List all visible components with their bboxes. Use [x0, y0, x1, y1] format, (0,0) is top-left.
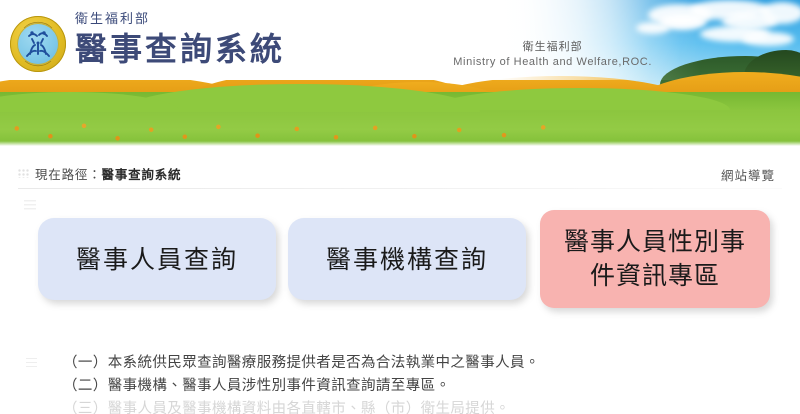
ministry-name-en: Ministry of Health and Welfare,ROC.: [453, 56, 652, 68]
breadcrumb-label: 現在路徑：: [35, 167, 102, 182]
notes-list: （一）本系統供民眾查詢醫療服務提供者是否為合法執業中之醫事人員。 （二）醫事機構…: [0, 352, 800, 414]
logo-people-glyph: [10, 16, 66, 72]
note-item: （三）醫事人員及醫事機構資料由各直轄市、縣（市）衛生局提供。: [63, 398, 800, 414]
breadcrumb-text: 現在路徑：醫事查詢系統: [35, 164, 181, 183]
breadcrumb-current: 醫事查詢系統: [102, 167, 182, 182]
tile-label-line1: 醫事人員性別事: [564, 227, 746, 256]
ministry-name-zh: 衛生福利部: [453, 38, 652, 54]
sitemap-link[interactable]: 網站導覽: [721, 165, 775, 184]
page-title: 醫事查詢系統: [75, 29, 285, 69]
header-title-group: 衛生福利部 醫事查詢系統: [75, 12, 285, 69]
breadcrumb: 現在路徑：醫事查詢系統: [18, 164, 181, 183]
ministry-signature: 衛生福利部 Ministry of Health and Welfare,ROC…: [453, 38, 652, 68]
tile-label: 醫事人員性別事件資訊專區: [564, 225, 746, 294]
note-item: （二）醫事機構、醫事人員涉性別事件資訊查詢請至專區。: [63, 375, 800, 398]
quick-links-row: 醫事人員查詢 醫事機構查詢 醫事人員性別事件資訊專區: [0, 200, 800, 320]
tile-label: 醫事人員查詢: [76, 243, 238, 276]
breadcrumb-divider: [18, 188, 782, 189]
tile-medical-institution-inquiry[interactable]: 醫事機構查詢: [288, 218, 526, 300]
tile-label-line2: 件資訊專區: [590, 261, 720, 290]
tile-gender-incident-info-zone[interactable]: 醫事人員性別事件資訊專區: [540, 210, 770, 308]
page-root: 衛生福利部 醫事查詢系統 衛生福利部 Ministry of Health an…: [0, 0, 800, 414]
list-marker-icon: [24, 200, 36, 210]
banner-bottom-fade: [0, 141, 800, 146]
dotted-grid-icon: [18, 169, 29, 178]
breadcrumb-bar: 現在路徑：醫事查詢系統 網站導覽: [0, 162, 800, 188]
ministry-name: 衛生福利部: [75, 12, 285, 28]
ministry-logo-icon[interactable]: [10, 16, 66, 72]
tile-label: 醫事機構查詢: [326, 243, 488, 276]
list-marker-icon: [26, 358, 37, 367]
note-item: （一）本系統供民眾查詢醫療服務提供者是否為合法執業中之醫事人員。: [63, 352, 800, 375]
tile-medical-personnel-inquiry[interactable]: 醫事人員查詢: [38, 218, 276, 300]
